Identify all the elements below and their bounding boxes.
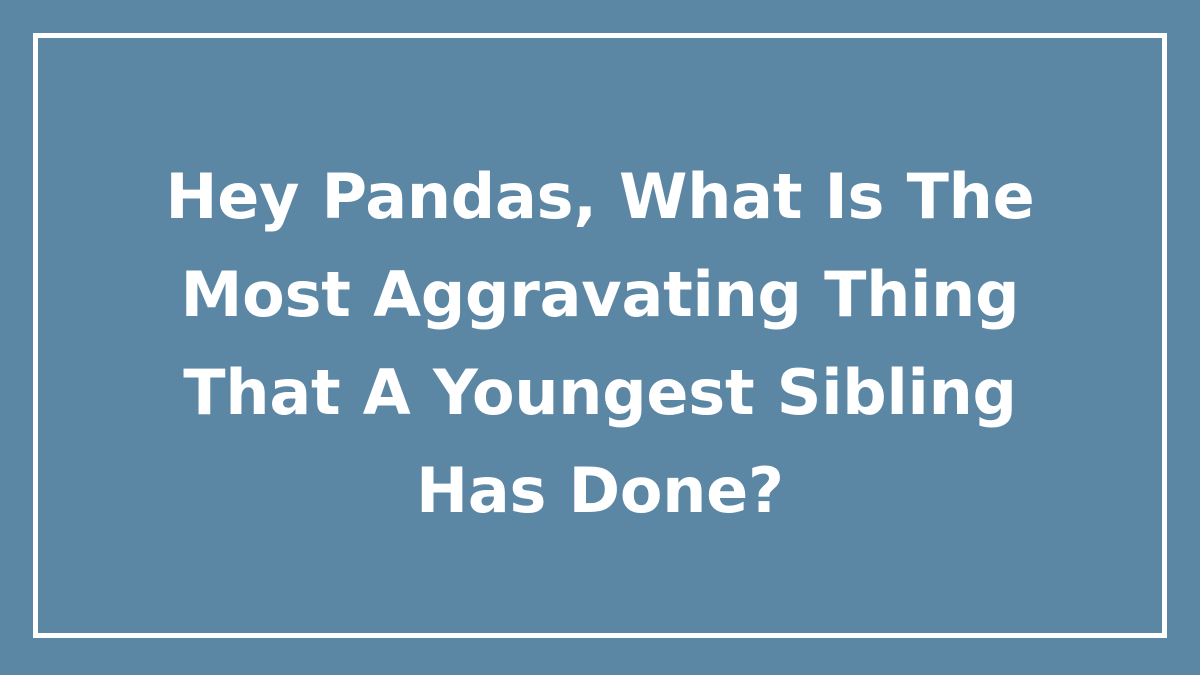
- headline-container: Hey Pandas, What Is The Most Aggravating…: [100, 148, 1100, 540]
- page-title: Hey Pandas, What Is The Most Aggravating…: [110, 148, 1090, 540]
- poster-card: Hey Pandas, What Is The Most Aggravating…: [0, 0, 1200, 675]
